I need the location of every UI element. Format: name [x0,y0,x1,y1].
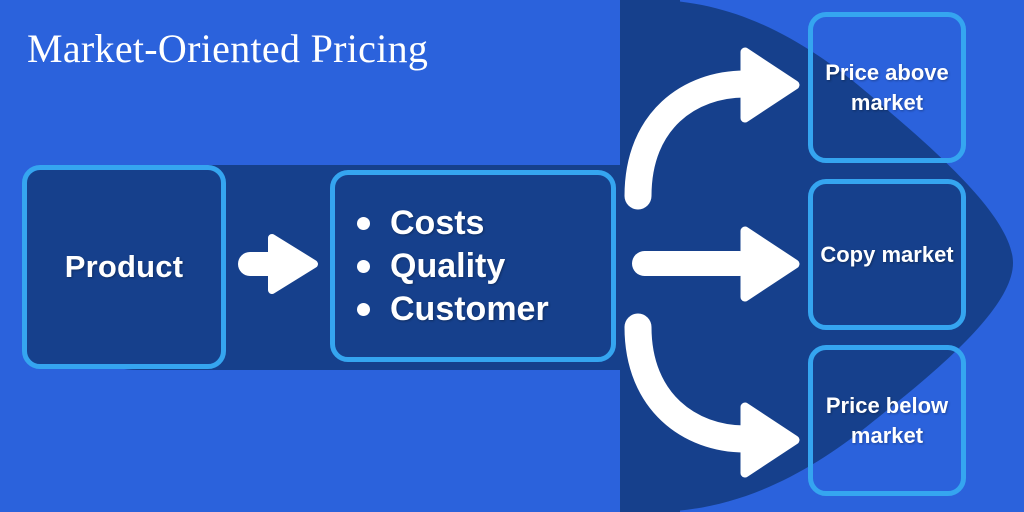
node-product[interactable]: Product [22,165,226,369]
factor-label-customer: Customer [390,292,549,326]
node-outcome-copy-label: Copy market [820,240,953,269]
factors-list: Costs Quality Customer [335,197,611,335]
node-factors[interactable]: Costs Quality Customer [330,170,616,362]
bullet-dot-icon [357,260,370,273]
node-outcome-below-label: Price below market [819,391,955,449]
node-product-label: Product [65,249,184,285]
factor-label-costs: Costs [390,206,484,240]
bullet-dot-icon [357,303,370,316]
list-item: Customer [357,292,611,326]
bullet-dot-icon [357,217,370,230]
node-outcome-above-label: Price above market [819,58,955,116]
node-outcome-price-above-market[interactable]: Price above market [808,12,966,163]
diagram-canvas: Market-Oriented Pricing Product Costs Qu… [0,0,1024,512]
node-outcome-copy-market[interactable]: Copy market [808,179,966,330]
factor-label-quality: Quality [390,249,505,283]
page-title: Market-Oriented Pricing [27,25,428,72]
node-outcome-price-below-market[interactable]: Price below market [808,345,966,496]
list-item: Quality [357,249,611,283]
list-item: Costs [357,206,611,240]
